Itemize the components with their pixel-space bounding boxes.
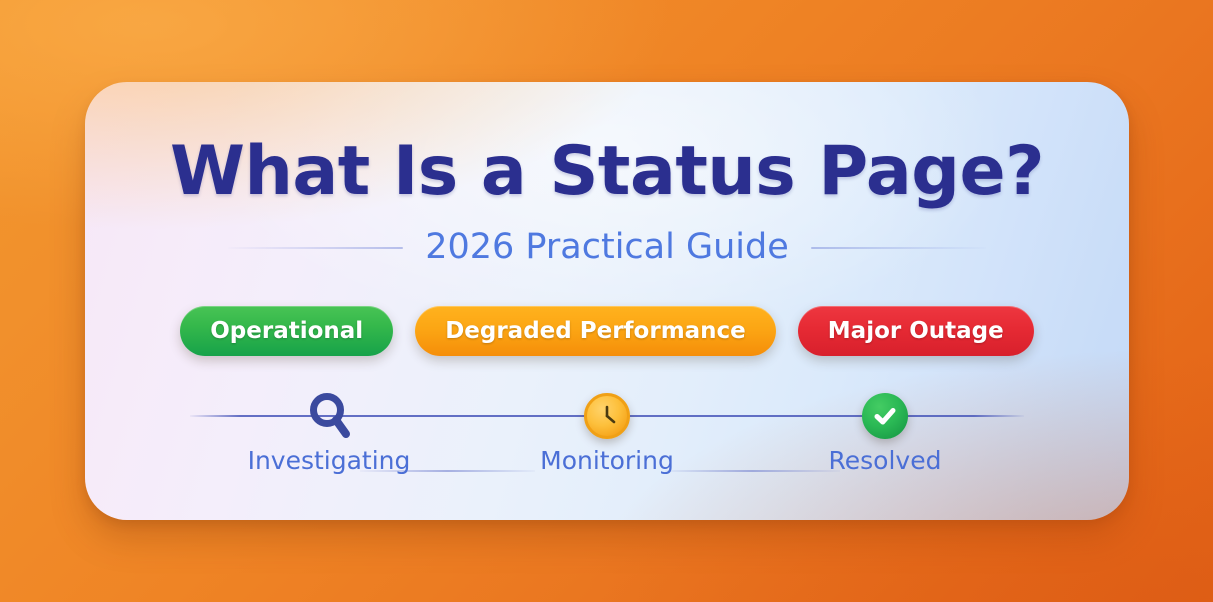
page-subtitle: 2026 Practical Guide <box>425 230 789 265</box>
status-badge-major-outage[interactable]: Major Outage <box>798 306 1034 356</box>
incident-timeline: Investigating Monitoring <box>190 388 1024 498</box>
poster-canvas: What Is a Status Page? 2026 Practical Gu… <box>0 0 1213 602</box>
card-content: What Is a Status Page? 2026 Practical Gu… <box>85 82 1129 520</box>
timeline-step-monitoring[interactable]: Monitoring <box>468 388 746 473</box>
status-badge-group: Operational Degraded Performance Major O… <box>85 306 1129 356</box>
timeline-step-label-investigating: Investigating <box>234 448 425 473</box>
timeline-step-label-resolved: Resolved <box>815 448 956 473</box>
timeline-step-investigating[interactable]: Investigating <box>190 388 468 473</box>
status-badge-degraded-performance[interactable]: Degraded Performance <box>415 306 776 356</box>
status-page-card: What Is a Status Page? 2026 Practical Gu… <box>85 82 1129 520</box>
clock-icon-wrap <box>584 388 630 444</box>
subtitle-rule-right-decoration <box>811 247 986 249</box>
check-circle-icon-wrap <box>862 388 908 444</box>
subtitle-rule-left-decoration <box>228 247 403 249</box>
clock-icon <box>584 393 630 439</box>
magnifier-icon <box>306 388 352 444</box>
check-circle-icon <box>862 393 908 439</box>
timeline-step-label-monitoring: Monitoring <box>526 448 688 473</box>
timeline-step-resolved[interactable]: Resolved <box>746 388 1024 473</box>
subtitle-row: 2026 Practical Guide <box>85 230 1129 265</box>
status-badge-operational[interactable]: Operational <box>180 306 393 356</box>
page-title: What Is a Status Page? <box>85 138 1129 206</box>
timeline-steps: Investigating Monitoring <box>190 388 1024 473</box>
